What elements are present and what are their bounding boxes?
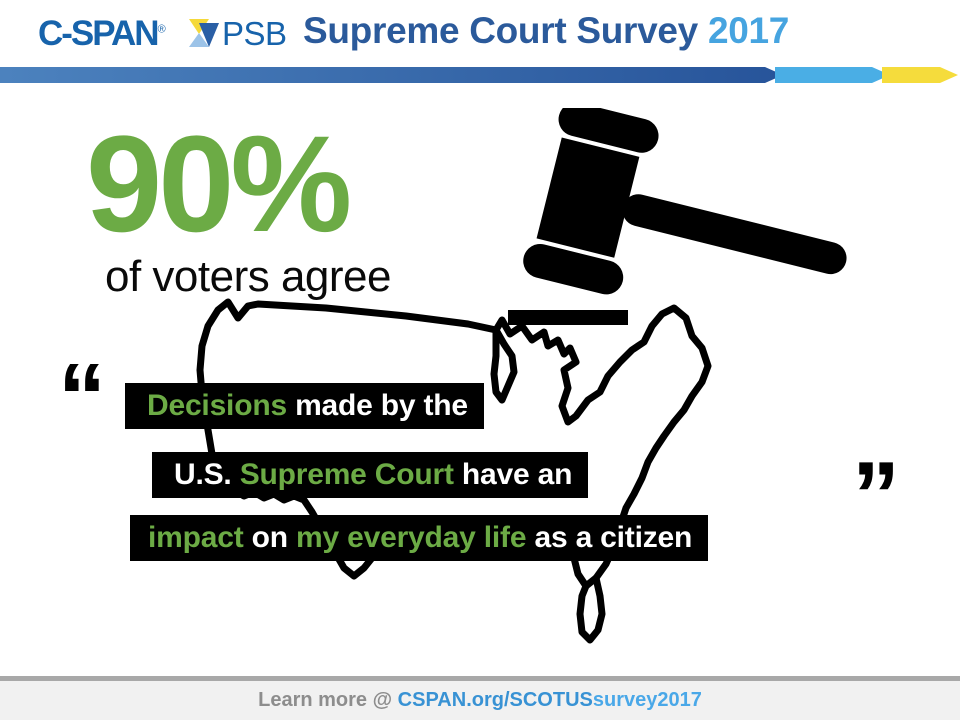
slide-canvas: C-SPAN® PSB Supreme Court Survey 2017: [0, 0, 960, 720]
quote-line-1-plain: made by the: [287, 389, 468, 423]
quote-line-2-plain-a: U.S.: [174, 458, 240, 492]
psb-logo-icon: [188, 17, 224, 50]
quote-line-3: impact on my everyday life as a citizen: [130, 515, 708, 561]
quote-close-mark: ”: [852, 448, 900, 544]
page-title-main: Supreme Court Survey: [303, 10, 698, 51]
stat-caption: of voters agree: [105, 252, 391, 302]
cspan-logo-text: C-SPAN: [38, 14, 158, 53]
quote-line-3-highlight-b: my everyday life: [296, 521, 526, 555]
registered-trademark-icon: ®: [158, 23, 166, 35]
quote-line-1-highlight: Decisions: [147, 389, 287, 423]
footer-url-secondary[interactable]: survey2017: [593, 689, 702, 711]
cspan-logo: C-SPAN®: [38, 14, 166, 54]
quote-line-1: Decisions made by the: [125, 383, 484, 429]
page-title-year: 2017: [708, 10, 789, 51]
header-bar: C-SPAN® PSB Supreme Court Survey 2017: [0, 0, 960, 62]
psb-logo-text: PSB: [222, 15, 287, 53]
footer-url-primary[interactable]: CSPAN.org/SCOTUS: [398, 689, 593, 711]
stat-percentage: 90%: [86, 116, 348, 253]
quote-line-2: U.S. Supreme Court have an: [152, 452, 588, 498]
quote-line-2-highlight: Supreme Court: [240, 458, 454, 492]
quote-line-3-plain-a: on: [244, 521, 297, 555]
quote-line-3-plain-b: as a citizen: [526, 521, 692, 555]
page-title: Supreme Court Survey 2017: [303, 10, 789, 52]
footer-learn-more: Learn more @ CSPAN.org/SCOTUSsurvey2017: [0, 689, 960, 712]
quote-line-3-highlight-a: impact: [148, 521, 244, 555]
footer-label: Learn more @: [258, 689, 398, 711]
quote-line-2-plain-b: have an: [454, 458, 572, 492]
quote-open-mark: “: [58, 350, 106, 446]
decorative-arrow-bar: [0, 65, 960, 85]
